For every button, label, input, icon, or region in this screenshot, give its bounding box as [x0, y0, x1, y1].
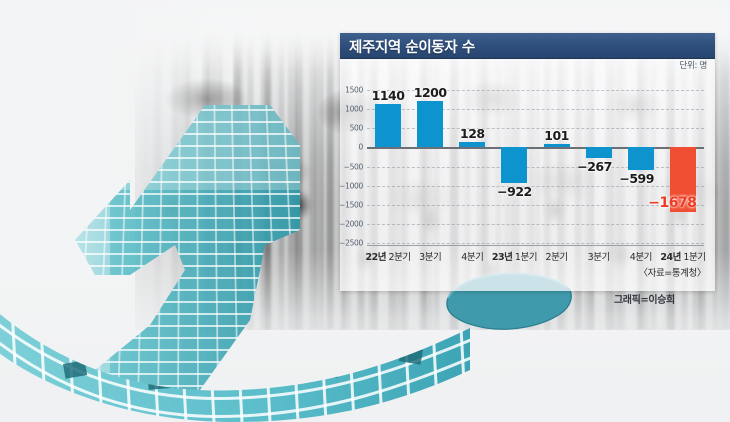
- chart-x-axis: 22년 2분기3분기4분기23년 1분기2분기3분기4분기24년 1분기: [367, 245, 704, 264]
- bar-value-label: 1140: [372, 88, 405, 103]
- x-axis-tick-label: 24년 1분기: [660, 249, 705, 263]
- graphic-credit: 그래픽=이승희: [614, 291, 675, 306]
- chart-bar: [628, 147, 654, 170]
- bar-value-label: 101: [544, 128, 569, 143]
- page-title: 제주지역 순이동자 수: [349, 36, 475, 57]
- chart-plot-area: 150010005000−500−1000−1500−2000−25001140…: [367, 90, 704, 243]
- bar-value-label: 128: [460, 126, 485, 141]
- chart-bar: [501, 147, 527, 182]
- x-axis-tick-label: 2분기: [546, 249, 568, 263]
- bar-value-label: −267: [577, 159, 612, 174]
- chart-bar: [417, 101, 443, 147]
- chart-panel: 제주지역 순이동자 수 단위: 명 150010005000−500−1000−…: [340, 33, 715, 291]
- y-axis-tick-label: −500: [344, 162, 363, 171]
- gridline: [367, 224, 704, 225]
- unit-label: 단위: 명: [679, 59, 707, 71]
- y-axis-tick-label: −2000: [339, 219, 363, 228]
- bar-value-label: −922: [497, 184, 532, 199]
- bar-value-label: −599: [619, 171, 654, 186]
- y-axis-tick-label: −1000: [339, 181, 363, 190]
- gridline: [367, 243, 704, 244]
- chart-bar: [459, 142, 485, 147]
- y-axis-tick-label: 0: [359, 143, 363, 152]
- source-note: 〈자료=통계청〉: [639, 265, 706, 279]
- y-axis-tick-label: 1000: [345, 105, 363, 114]
- x-axis-tick-label: 22년 2분기: [366, 249, 411, 263]
- y-axis-tick-label: −1500: [339, 200, 363, 209]
- bar-value-label: −1678: [648, 195, 696, 211]
- y-axis-tick-label: 1500: [345, 86, 363, 95]
- chart-bar: [375, 104, 401, 148]
- bar-value-label: 1200: [414, 85, 447, 100]
- x-axis-tick-label: 4분기: [630, 249, 652, 263]
- x-axis-tick-label: 3분기: [419, 249, 441, 263]
- x-axis-tick-label: 3분기: [588, 249, 610, 263]
- y-axis-tick-label: −2500: [339, 239, 363, 248]
- y-axis-tick-label: 500: [350, 124, 363, 133]
- x-axis-tick-label: 23년 1분기: [492, 249, 537, 263]
- x-axis-tick-label: 4분기: [461, 249, 483, 263]
- teal-cube-arrow-graphic: [0, 270, 470, 422]
- chart-bar: [544, 144, 570, 148]
- chart-bar: [586, 147, 612, 157]
